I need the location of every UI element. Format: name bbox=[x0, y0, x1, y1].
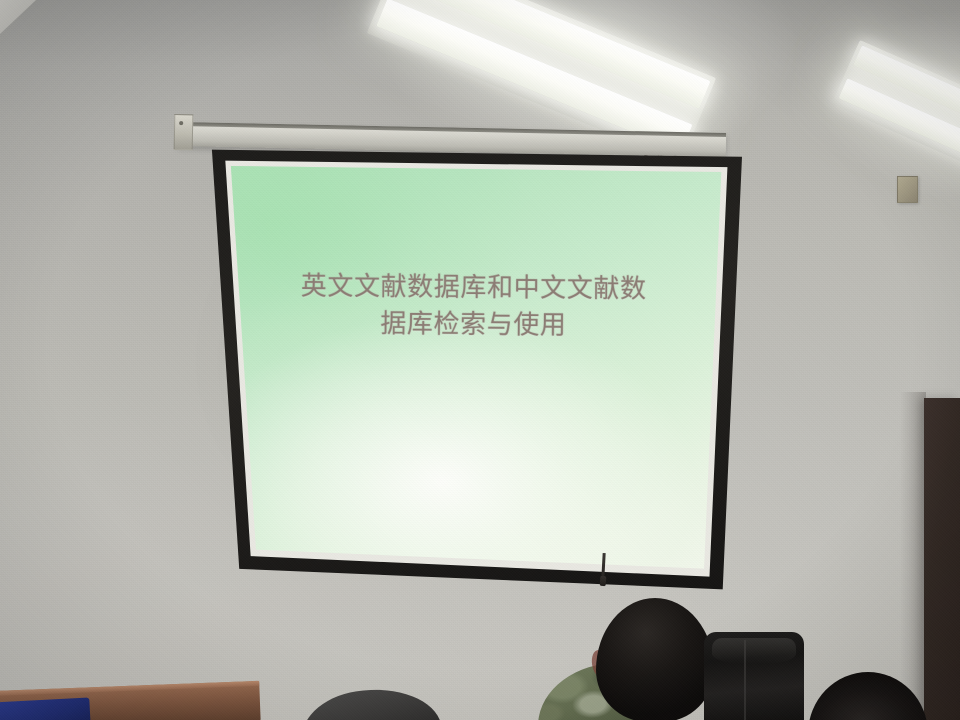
chair-seam bbox=[744, 640, 746, 720]
person-shoulder-left bbox=[298, 684, 441, 720]
audience-foreground bbox=[0, 0, 960, 720]
person-head-center bbox=[596, 598, 714, 720]
classroom-photo-scene: Redleaf 英文文献数据库和中文文献数 据库检索与使用 bbox=[0, 0, 960, 720]
person-head-right bbox=[808, 672, 928, 720]
desk-top-edge bbox=[0, 681, 259, 696]
blue-bag bbox=[0, 698, 91, 720]
chair-highlight bbox=[712, 638, 796, 664]
